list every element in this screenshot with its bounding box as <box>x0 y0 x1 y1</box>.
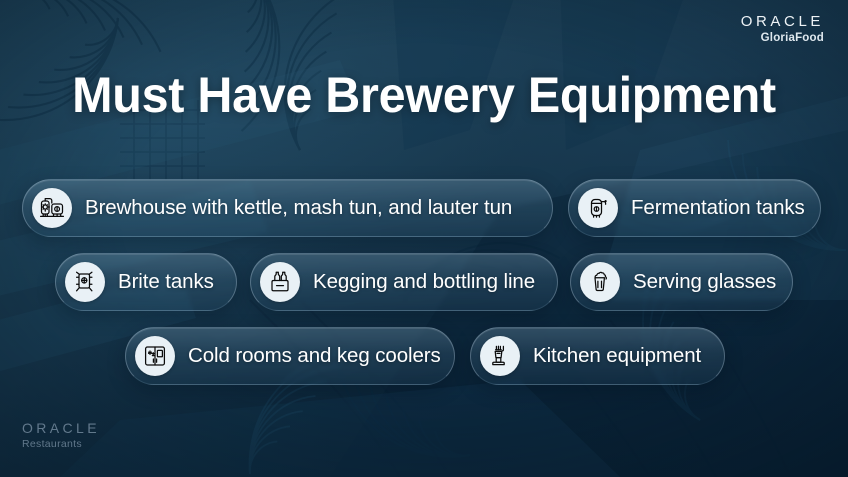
equipment-pill-label: Cold rooms and keg coolers <box>188 344 441 368</box>
brite-tank-icon <box>65 262 105 302</box>
oracle-wordmark: ORACLE <box>741 14 824 29</box>
equipment-pill-label: Kitchen equipment <box>533 344 701 368</box>
equipment-pill-label: Kegging and bottling line <box>313 270 535 294</box>
equipment-pill-label: Brewhouse with kettle, mash tun, and lau… <box>85 196 512 220</box>
restaurants-wordmark: Restaurants <box>22 439 100 450</box>
equipment-pill-cold-rooms[interactable]: Cold rooms and keg coolers <box>125 327 455 385</box>
fermentation-tank-icon <box>578 188 618 228</box>
bottle-crate-icon <box>260 262 300 302</box>
equipment-pill-kitchen-equipment[interactable]: Kitchen equipment <box>470 327 725 385</box>
gloriafood-wordmark: GloriaFood <box>741 33 824 45</box>
slide-canvas: ORACLE GloriaFood Must Have Brewery Equi… <box>0 0 848 477</box>
equipment-pill-serving-glasses[interactable]: Serving glasses <box>570 253 793 311</box>
equipment-pill-kegging-bottling[interactable]: Kegging and bottling line <box>250 253 558 311</box>
brewhouse-icon <box>32 188 72 228</box>
cooler-fridge-icon <box>135 336 175 376</box>
oracle-wordmark: ORACLE <box>22 421 100 435</box>
oracle-restaurants-logo: ORACLE Restaurants <box>22 421 100 450</box>
equipment-pill-brewhouse[interactable]: Brewhouse with kettle, mash tun, and lau… <box>22 179 553 237</box>
oracle-gloriafood-logo: ORACLE GloriaFood <box>741 14 824 45</box>
equipment-pill-label: Fermentation tanks <box>631 196 805 220</box>
equipment-pill-label: Serving glasses <box>633 270 776 294</box>
page-title: Must Have Brewery Equipment <box>13 66 836 124</box>
blender-icon <box>480 336 520 376</box>
equipment-pill-fermentation-tanks[interactable]: Fermentation tanks <box>568 179 821 237</box>
beer-glass-icon <box>580 262 620 302</box>
equipment-pill-brite-tanks[interactable]: Brite tanks <box>55 253 237 311</box>
equipment-pill-label: Brite tanks <box>118 270 214 294</box>
